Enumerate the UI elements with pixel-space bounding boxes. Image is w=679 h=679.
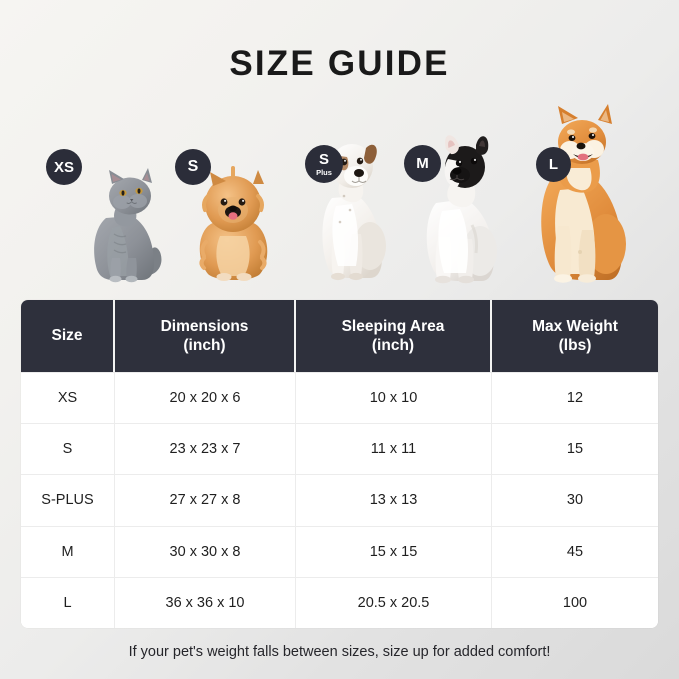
footer-note: If your pet's weight falls between sizes… [0,644,679,660]
size-badge-s: S [175,149,211,185]
table-row: L 36 x 36 x 10 20.5 x 20.5 100 [21,577,658,628]
cell-size: L [21,578,115,628]
column-header-max-weight-line1: Max Weight [532,318,618,335]
column-header-max-weight: Max Weight (lbs) [492,300,658,372]
page-title: SIZE GUIDE [0,0,679,81]
column-header-size: Size [21,300,115,372]
size-badge-m: M [404,145,441,182]
column-header-dimensions-line1: Dimensions [161,318,249,335]
dog-shiba-inu-illustration [524,102,636,284]
cell-sleeping-area: 11 x 11 [296,424,492,474]
cell-dimensions: 30 x 30 x 8 [115,527,296,577]
size-badge-s-plus-sublabel: Plus [316,169,332,177]
column-header-size-line1: Size [51,327,82,344]
size-guide-table: Size Dimensions (inch) Sleeping Area (in… [21,300,658,628]
table-row: XS 20 x 20 x 6 10 x 10 12 [21,372,658,423]
size-badge-l-label: L [549,157,558,172]
cell-max-weight: 30 [492,475,658,525]
animal-figure-xs [76,166,168,284]
cell-size: XS [21,373,115,423]
column-header-sleeping-area-line1: Sleeping Area [342,318,445,335]
size-badge-xs: XS [46,149,82,185]
column-header-dimensions: Dimensions (inch) [115,300,296,372]
cell-dimensions: 23 x 23 x 7 [115,424,296,474]
size-badge-s-plus-label: S [319,152,329,167]
cell-max-weight: 45 [492,527,658,577]
column-header-sleeping-area: Sleeping Area (inch) [296,300,492,372]
table-row: M 30 x 30 x 8 15 x 15 45 [21,526,658,577]
column-header-dimensions-line2: (inch) [183,337,225,354]
cell-size: S-PLUS [21,475,115,525]
cat-british-shorthair-illustration [76,166,168,284]
cell-max-weight: 12 [492,373,658,423]
cell-max-weight: 15 [492,424,658,474]
cell-max-weight: 100 [492,578,658,628]
cell-sleeping-area: 13 x 13 [296,475,492,525]
cell-sleeping-area: 10 x 10 [296,373,492,423]
table-row: S 23 x 23 x 7 11 x 11 15 [21,423,658,474]
column-header-max-weight-line2: (lbs) [559,337,592,354]
size-badge-s-label: S [188,159,199,175]
column-header-sleeping-area-line2: (inch) [372,337,414,354]
table-header-row: Size Dimensions (inch) Sleeping Area (in… [21,300,658,372]
cell-size: S [21,424,115,474]
size-badge-m-label: M [416,156,429,171]
cell-sleeping-area: 20.5 x 20.5 [296,578,492,628]
size-badge-l: L [536,147,571,182]
size-badge-xs-label: XS [54,160,74,175]
cell-size: M [21,527,115,577]
cell-sleeping-area: 15 x 15 [296,527,492,577]
cell-dimensions: 36 x 36 x 10 [115,578,296,628]
animal-size-strip: XS [0,89,679,284]
cell-dimensions: 20 x 20 x 6 [115,373,296,423]
table-row: S-PLUS 27 x 27 x 8 13 x 13 30 [21,474,658,525]
size-badge-s-plus: S Plus [305,145,343,183]
animal-figure-l [524,102,636,284]
cell-dimensions: 27 x 27 x 8 [115,475,296,525]
